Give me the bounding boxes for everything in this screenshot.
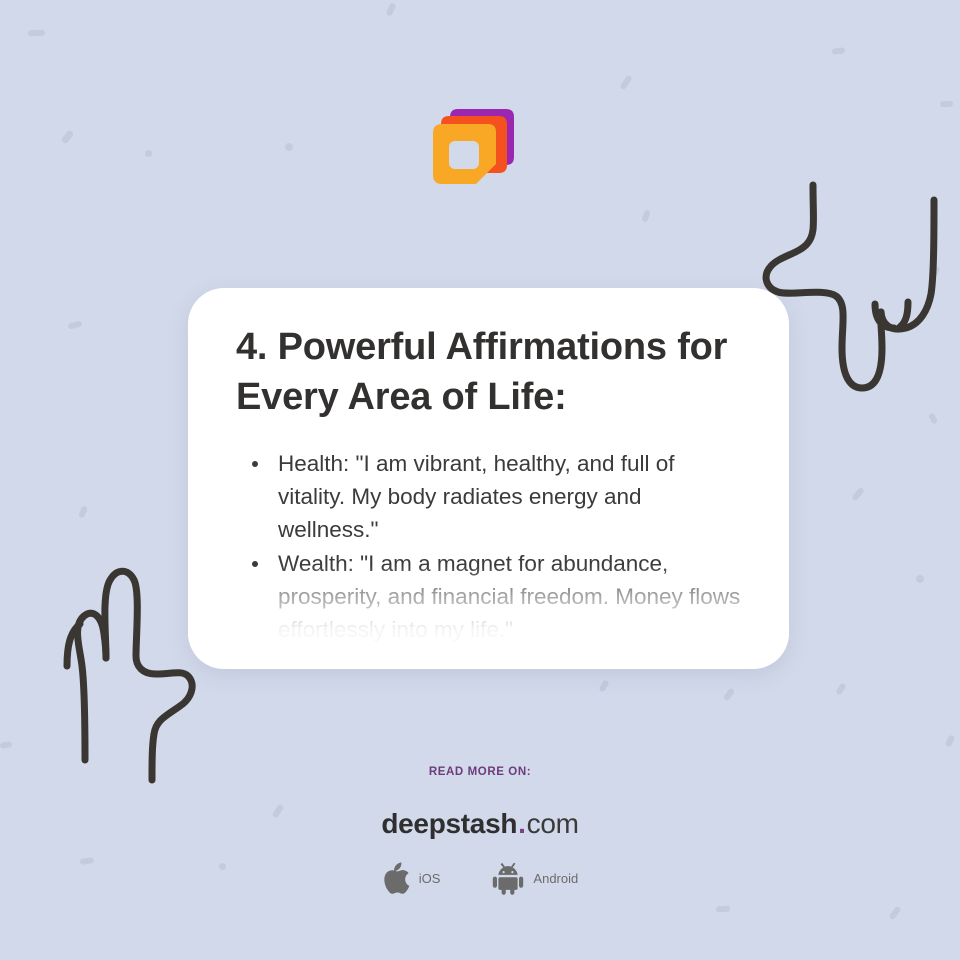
brand-wordmark[interactable]: deepstash.com xyxy=(0,808,960,840)
confetti-mark xyxy=(145,150,152,157)
android-icon xyxy=(492,862,524,895)
card-inner: 4. Powerful Affirmations for Every Area … xyxy=(188,288,789,646)
confetti-mark xyxy=(945,734,956,747)
brand-dot: . xyxy=(517,808,526,839)
confetti-mark xyxy=(928,412,938,425)
confetti-mark xyxy=(28,30,45,37)
apple-icon xyxy=(382,862,410,895)
confetti-mark xyxy=(716,906,730,913)
confetti-mark xyxy=(723,687,735,701)
confetti-mark xyxy=(835,682,846,695)
confetti-mark xyxy=(60,129,74,144)
confetti-mark xyxy=(78,505,88,518)
confetti-mark xyxy=(0,741,12,749)
app-store-badges: iOS xyxy=(0,862,960,895)
android-store-badge[interactable]: Android xyxy=(492,862,578,895)
confetti-mark xyxy=(888,906,901,921)
brand-tld: com xyxy=(527,808,579,839)
confetti-mark xyxy=(832,47,846,54)
brand-name: deepstash xyxy=(381,808,517,839)
content-card: 4. Powerful Affirmations for Every Area … xyxy=(188,288,789,669)
confetti-mark xyxy=(284,142,293,151)
confetti-mark xyxy=(929,265,941,279)
ios-store-label: iOS xyxy=(419,871,441,886)
android-store-label: Android xyxy=(533,871,578,886)
list-item: Wealth: "I am a magnet for abundance, pr… xyxy=(262,547,743,646)
footer: READ MORE ON: deepstash.com iOS xyxy=(0,766,960,895)
confetti-mark xyxy=(916,575,924,583)
deepstash-logo-icon xyxy=(430,103,520,196)
confetti-mark xyxy=(619,75,633,91)
confetti-mark xyxy=(641,209,650,222)
confetti-mark xyxy=(386,2,397,16)
affirmations-list: Health: "I am vibrant, healthy, and full… xyxy=(236,447,743,646)
confetti-mark xyxy=(598,679,609,692)
confetti-mark xyxy=(940,101,953,108)
poster-canvas: 4. Powerful Affirmations for Every Area … xyxy=(0,0,960,960)
ios-store-badge[interactable]: iOS xyxy=(382,862,441,895)
page-title: 4. Powerful Affirmations for Every Area … xyxy=(236,322,743,422)
list-item: Health: "I am vibrant, healthy, and full… xyxy=(262,447,743,546)
read-more-label: READ MORE ON: xyxy=(0,766,960,778)
confetti-mark xyxy=(67,320,82,329)
confetti-mark xyxy=(851,487,865,502)
